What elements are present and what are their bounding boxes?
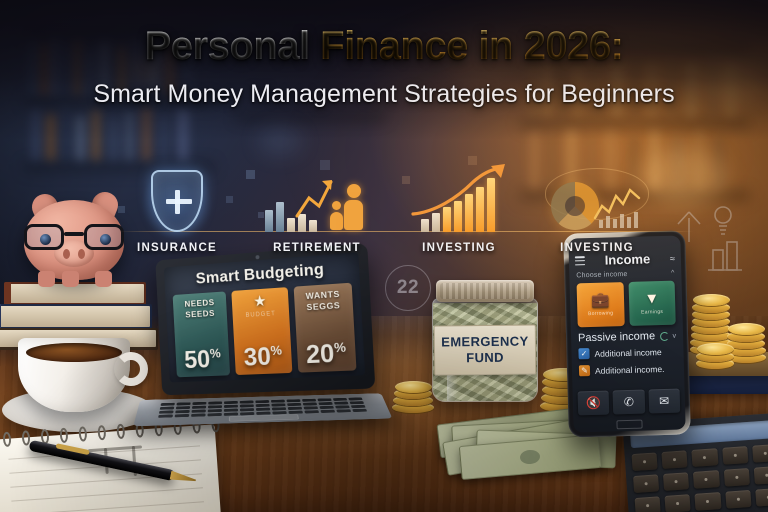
title-part-year: in 2026: [468,24,624,68]
shield-plus-icon [125,168,229,236]
calculator-key[interactable] [635,496,661,512]
phone-tile-borrowing[interactable]: 💼 Borrowing [577,282,625,327]
loading-spinner-icon [659,331,668,340]
laptop-base [133,393,392,426]
laptop-screen[interactable]: Smart Budgeting NEEDS SEEDS 50% ★ BUDGET… [164,252,365,382]
phone-section-label: Choose income [576,271,627,279]
edit-icon[interactable]: ✎ [579,365,590,376]
hamburger-menu-icon[interactable] [575,256,585,265]
person-child-icon [330,201,343,230]
family-bar-chart-icon [265,168,369,236]
download-arrow-icon: ▼ [644,291,659,306]
calculator-key[interactable] [754,466,768,485]
home-button[interactable] [616,420,642,430]
headline-block: Personal Finance in 2026: Smart Money Ma… [0,26,768,109]
envelope-icon[interactable]: ✉ [648,389,680,414]
star-icon: ★ [253,294,267,310]
book-navy [0,304,152,330]
laptop-lid: Smart Budgeting NEEDS SEEDS 50% ★ BUDGET… [155,243,375,395]
laptop-trackpad[interactable] [229,414,299,421]
poster-canvas: Personal Finance in 2026: Smart Money Ma… [0,0,768,512]
phone-passive-label: Passive income [578,330,655,344]
phone-list-item[interactable]: ✎ Additional income. [572,359,684,379]
budget-card-line2: SEGGS [306,300,340,313]
calculator-key[interactable] [662,450,688,469]
lightbulb-outline-icon [712,204,734,238]
title-part-finance: Finance [320,24,468,68]
jar-label: EMERGENCY FUND [434,324,537,375]
phone-action-bar: 🔇 ✆ ✉ [578,389,681,416]
calculator-keypad [632,444,768,512]
calculator-key[interactable] [695,492,721,511]
budget-percent-unit: % [270,343,282,359]
phone-tile-earnings[interactable]: ▼ Earnings [628,281,676,326]
category-icon-strip: INSURANCE [118,148,694,254]
category-item-insurance[interactable]: INSURANCE [118,148,236,254]
rising-bar-chart-arrow-icon [407,168,511,236]
emergency-fund-jar: EMERGENCY FUND [428,278,542,404]
category-item-investing-2[interactable]: INVESTING [538,148,656,254]
category-label: INVESTING [560,242,634,254]
line-chart-icon [593,184,647,230]
title-part-personal: Personal [145,24,321,68]
category-item-investing-1[interactable]: INVESTING [400,148,518,254]
budget-card-percent: 50% [175,345,230,376]
mute-speaker-icon[interactable]: 🔇 [578,391,610,416]
budget-card-percent: 20% [296,338,356,370]
budget-percent-unit: % [334,340,347,356]
jar-lid [436,280,534,302]
budget-card-needs[interactable]: NEEDS SEEDS 50% [173,291,231,377]
category-item-retirement[interactable]: RETIREMENT [258,148,376,254]
calculator-key[interactable] [723,468,749,487]
up-arrow-icon [295,176,335,220]
phone-tile-group: 💼 Borrowing ▼ Earnings [569,276,682,327]
calculator-key[interactable] [633,474,659,493]
phone-call-icon[interactable]: ✆ [613,390,645,415]
chevron-up-icon[interactable]: ^ [671,270,674,277]
page-title: Personal Finance in 2026: [0,26,768,68]
calculator-key[interactable] [752,444,768,463]
calculator-key[interactable] [632,452,658,471]
budget-card-budget[interactable]: ★ BUDGET 30% [232,287,292,375]
smartphone[interactable]: Income ≈ Choose income ^ 💼 Borrowing ▼ E… [563,230,691,437]
phone-tile-label: Earnings [641,309,663,316]
bar-chart-outline-icon [706,236,744,272]
status-badge: 22 [385,265,431,311]
budget-card-group: NEEDS SEEDS 50% ★ BUDGET 30% WANTS SEGGS… [173,283,357,378]
checkbox-icon[interactable]: ✓ [578,348,589,359]
phone-list-label: Additional income. [595,363,665,375]
phone-list-label: Additional income [594,347,661,359]
budget-card-line2: SEEDS [185,308,215,320]
phone-screen[interactable]: Income ≈ Choose income ^ 💼 Borrowing ▼ E… [568,235,685,432]
budget-card-sub: BUDGET [245,311,275,319]
piggy-bank-with-glasses [18,188,130,284]
signal-icon: ≈ [670,253,675,263]
category-label: INSURANCE [137,242,217,254]
growth-arrow-icon [409,164,513,220]
person-adult-icon [344,184,363,230]
phone-tile-label: Borrowing [588,310,613,317]
budget-percent-value: 50 [184,346,211,374]
category-label: INVESTING [422,242,496,254]
pie-line-chart-icon [545,168,649,236]
coffee-liquid [26,343,122,362]
briefcase-icon: 💼 [591,292,610,308]
budget-percent-value: 30 [243,343,272,372]
calculator-key[interactable] [722,446,748,465]
chevron-down-icon[interactable]: v [672,332,676,339]
calculator-key[interactable] [665,494,691,512]
calculator-key[interactable] [692,448,718,467]
laptop[interactable]: Smart Budgeting NEEDS SEEDS 50% ★ BUDGET… [138,252,388,462]
budget-card-wants[interactable]: WANTS SEGGS 20% [293,283,356,373]
jar-label-line1: EMERGENCY [441,334,529,351]
calculator-key[interactable] [755,488,768,507]
budget-percent-value: 20 [305,339,335,369]
calculator-key[interactable] [693,470,719,489]
budget-percent-unit: % [209,346,221,361]
page-subtitle: Smart Money Management Strategies for Be… [0,80,768,109]
calculator-key[interactable] [663,472,689,491]
jar-label-line2: FUND [466,350,504,366]
category-label: RETIREMENT [273,242,361,254]
coin-stack-short [696,328,736,370]
eyeglasses-icon [24,224,124,250]
budget-card-percent: 30% [235,342,292,373]
calculator-key[interactable] [725,490,751,509]
